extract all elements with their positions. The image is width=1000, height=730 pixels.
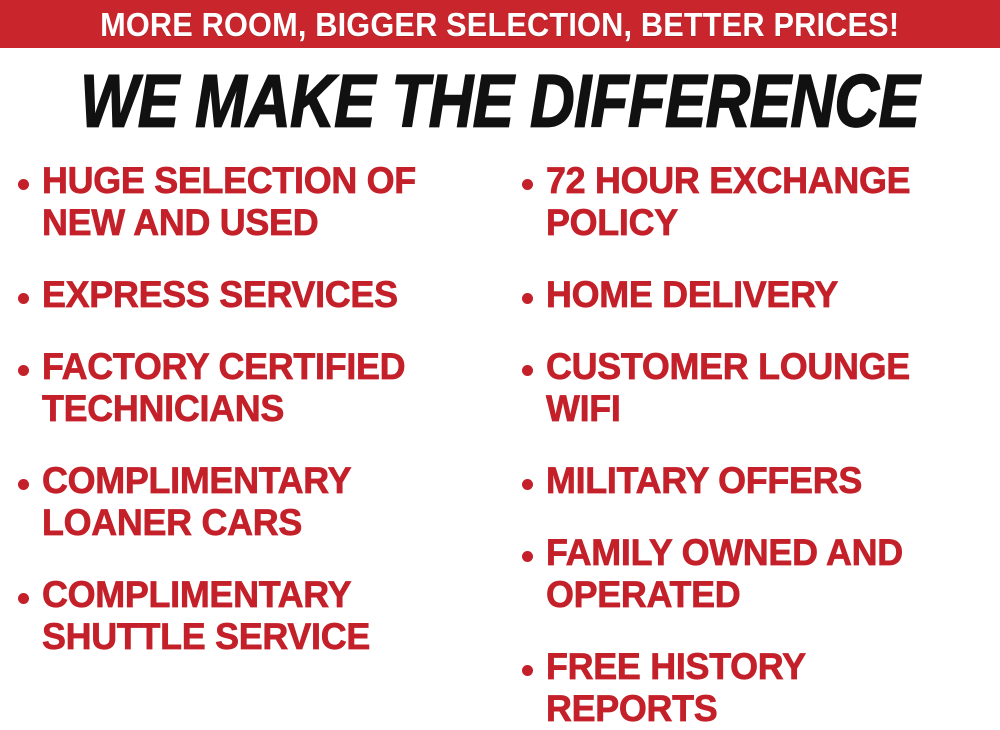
list-item: CUSTOMER LOUNGE WIFI xyxy=(522,346,996,430)
bullet-dot-icon xyxy=(522,179,533,190)
bullet-dot-icon xyxy=(18,479,29,490)
feature-label: MILITARY OFFERS xyxy=(546,460,862,502)
promo-banner: MORE ROOM, BIGGER SELECTION, BETTER PRIC… xyxy=(0,0,1000,48)
feature-label: EXPRESS SERVICES xyxy=(42,274,398,316)
bullet-dot-icon xyxy=(522,665,533,676)
feature-label: FACTORY CERTIFIED TECHNICIANS xyxy=(42,346,482,430)
feature-label: 72 HOUR EXCHANGE POLICY xyxy=(546,160,983,244)
feature-column-right: 72 HOUR EXCHANGE POLICY HOME DELIVERY CU… xyxy=(500,160,1000,694)
bullet-dot-icon xyxy=(18,293,29,304)
bullet-dot-icon xyxy=(18,593,29,604)
bullet-dot-icon xyxy=(522,293,533,304)
feature-column-left: HUGE SELECTION OF NEW AND USED EXPRESS S… xyxy=(0,160,500,694)
headline-text: WE MAKE THE DIFFERENCE xyxy=(80,60,919,143)
list-item: EXPRESS SERVICES xyxy=(18,274,496,316)
list-item: FACTORY CERTIFIED TECHNICIANS xyxy=(18,346,496,430)
feature-label: FAMILY OWNED AND OPERATED xyxy=(546,532,983,616)
bullet-dot-icon xyxy=(522,479,533,490)
bullet-dot-icon xyxy=(18,179,29,190)
list-item: 72 HOUR EXCHANGE POLICY xyxy=(522,160,996,244)
feature-label: HUGE SELECTION OF NEW AND USED xyxy=(42,160,482,244)
bullet-dot-icon xyxy=(522,365,533,376)
feature-label: COMPLIMENTARY LOANER CARS xyxy=(42,460,482,544)
list-item: FAMILY OWNED AND OPERATED xyxy=(522,532,996,616)
feature-label: FREE HISTORY REPORTS xyxy=(546,646,983,730)
feature-label: HOME DELIVERY xyxy=(546,274,838,316)
list-item: COMPLIMENTARY LOANER CARS xyxy=(18,460,496,544)
headline: WE MAKE THE DIFFERENCE xyxy=(0,62,1000,140)
list-item: HUGE SELECTION OF NEW AND USED xyxy=(18,160,496,244)
feature-label: CUSTOMER LOUNGE WIFI xyxy=(546,346,983,430)
feature-list-right: 72 HOUR EXCHANGE POLICY HOME DELIVERY CU… xyxy=(522,160,996,730)
list-item: MILITARY OFFERS xyxy=(522,460,996,502)
list-item: FREE HISTORY REPORTS xyxy=(522,646,996,730)
feature-list-left: HUGE SELECTION OF NEW AND USED EXPRESS S… xyxy=(18,160,496,658)
feature-columns: HUGE SELECTION OF NEW AND USED EXPRESS S… xyxy=(0,160,1000,694)
bullet-dot-icon xyxy=(18,365,29,376)
feature-label: COMPLIMENTARY SHUTTLE SERVICE xyxy=(42,574,482,658)
list-item: HOME DELIVERY xyxy=(522,274,996,316)
promo-banner-text: MORE ROOM, BIGGER SELECTION, BETTER PRIC… xyxy=(100,8,899,41)
bullet-dot-icon xyxy=(522,551,533,562)
list-item: COMPLIMENTARY SHUTTLE SERVICE xyxy=(18,574,496,658)
